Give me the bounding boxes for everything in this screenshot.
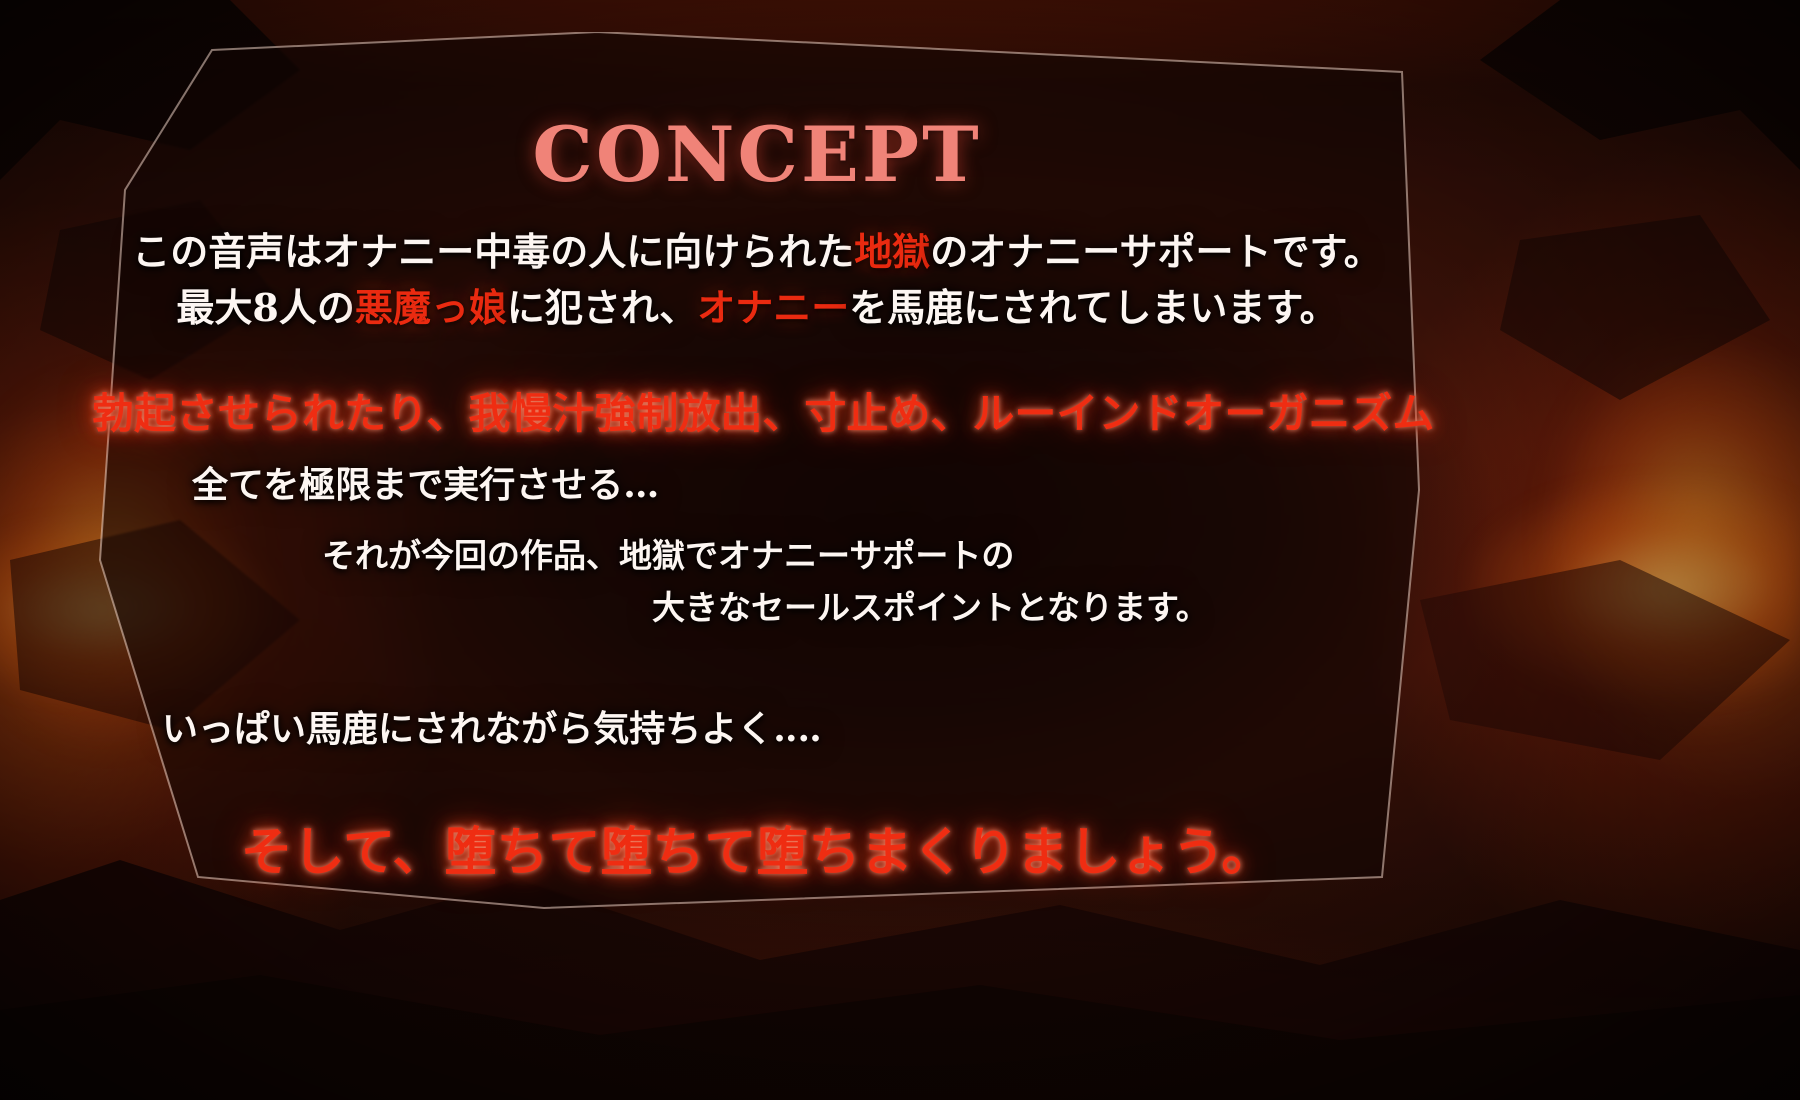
slide-canvas: CONCEPT この音声はオナニー中毒の人に向けられた地獄のオナニーサポートです… — [0, 0, 1800, 1100]
closing-line: いっぱい馬鹿にされながら気持ちよく‥‥ — [162, 704, 822, 754]
intro-line2-highlight-1: 悪魔っ娘 — [355, 285, 507, 330]
intro-line-1: この音声はオナニー中毒の人に向けられた地獄のオナニーサポートです。 — [110, 224, 1404, 280]
statement-line: 全てを極限まで実行させる… — [192, 460, 659, 510]
intro-line1-part-b: のオナニーサポートです。 — [930, 229, 1381, 274]
intro-line1-highlight: 地獄 — [854, 229, 930, 274]
intro-line-2: 最大8人の悪魔っ娘に犯され、オナニーを馬鹿にされてしまいます。 — [110, 280, 1404, 336]
intro-paragraph: この音声はオナニー中毒の人に向けられた地獄のオナニーサポートです。 最大8人の悪… — [110, 224, 1404, 336]
intro-line1-part-a: この音声はオナニー中毒の人に向けられた — [132, 229, 854, 274]
emphasis-line-1: 勃起させられたり、我慢汁強制放出、寸止め、ルーインドオーガニズム — [92, 380, 1422, 441]
selling-point-line-2: 大きなセールスポイントとなります。 — [322, 582, 1209, 634]
emphasis-line-2: そして、堕ちて堕ちて堕ちまくりましょう。 — [92, 810, 1422, 885]
intro-line2-highlight-2: オナニー — [697, 285, 849, 330]
page-title: CONCEPT — [92, 110, 1422, 199]
intro-line2-part-b: に犯され、 — [507, 285, 697, 330]
intro-line2-part-c: を馬鹿にされてしまいます。 — [849, 285, 1337, 330]
selling-point-block: それが今回の作品、地獄でオナニーサポートの 大きなセールスポイントとなります。 — [322, 530, 1209, 634]
concept-content: CONCEPT この音声はオナニー中毒の人に向けられた地獄のオナニーサポートです… — [92, 32, 1422, 912]
intro-line2-part-a: 最大8人の — [176, 285, 354, 330]
selling-point-line-1: それが今回の作品、地獄でオナニーサポートの — [322, 536, 1014, 575]
